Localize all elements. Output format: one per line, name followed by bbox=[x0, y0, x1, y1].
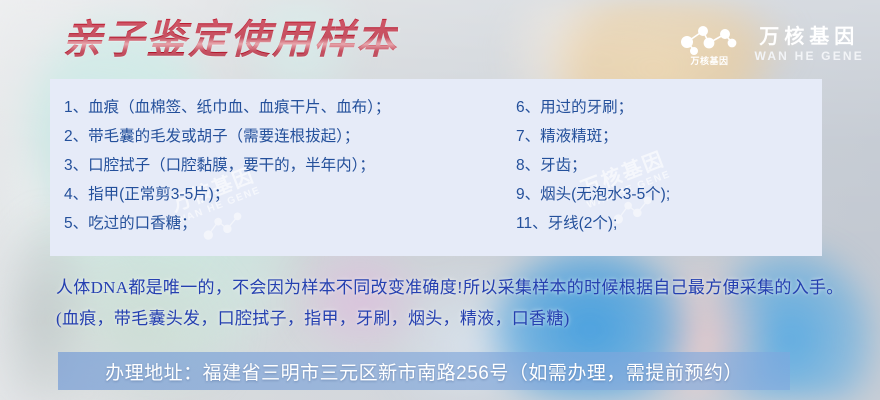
page-title: 亲子鉴定使用样本 bbox=[62, 15, 398, 65]
brand-name-en: WAN HE GENE bbox=[754, 50, 864, 62]
sample-list-right-column: 6、用过的牙刷； 7、精液精斑； 8、牙齿； 9、烟头(无泡水3-5个); 11… bbox=[494, 93, 822, 256]
list-item: 1、血痕（血棉签、纸巾血、血痕干片、血布）； bbox=[64, 93, 494, 122]
poster-root: 亲子鉴定使用样本 bbox=[0, 0, 880, 400]
list-item: 3、口腔拭子（口腔黏膜，要干的，半年内）； bbox=[64, 151, 494, 180]
address-text: 办理地址：福建省三明市三元区新市南路256号（如需办理，需提前预约） bbox=[105, 358, 743, 385]
description-paragraph: 人体DNA都是唯一的，不会因为样本不同改变准确度!所以采集样本的时候根据自己最方… bbox=[56, 272, 856, 334]
brand-mark: 万核基因 bbox=[678, 22, 740, 66]
list-item: 7、精液精斑； bbox=[516, 122, 822, 151]
list-item: 4、指甲(正常剪3-5片)； bbox=[64, 180, 494, 209]
address-bar: 办理地址：福建省三明市三元区新市南路256号（如需办理，需提前预约） bbox=[58, 352, 790, 390]
sample-list-columns: 1、血痕（血棉签、纸巾血、血痕干片、血布）； 2、带毛囊的毛发或胡子（需要连根拔… bbox=[50, 79, 822, 256]
brand-wordmark: 万核基因 WAN HE GENE bbox=[754, 27, 864, 62]
brand-name-cn: 万核基因 bbox=[759, 27, 859, 47]
sample-list-left-column: 1、血痕（血棉签、纸巾血、血痕干片、血布）； 2、带毛囊的毛发或胡子（需要连根拔… bbox=[50, 93, 494, 256]
sample-list-panel: 万核基因 WAN HE GENE 万核基因 WAN bbox=[50, 79, 822, 256]
list-item: 2、带毛囊的毛发或胡子（需要连根拔起）； bbox=[64, 122, 494, 151]
brand-mark-label: 万核基因 bbox=[678, 54, 740, 67]
list-item: 11、牙线(2个); bbox=[516, 209, 822, 238]
list-item: 5、吃过的口香糖； bbox=[64, 209, 494, 238]
list-item: 8、牙齿； bbox=[516, 151, 822, 180]
brand-logo: 万核基因 万核基因 WAN HE GENE bbox=[678, 22, 864, 66]
list-item: 9、烟头(无泡水3-5个); bbox=[516, 180, 822, 209]
list-item: 6、用过的牙刷； bbox=[516, 93, 822, 122]
